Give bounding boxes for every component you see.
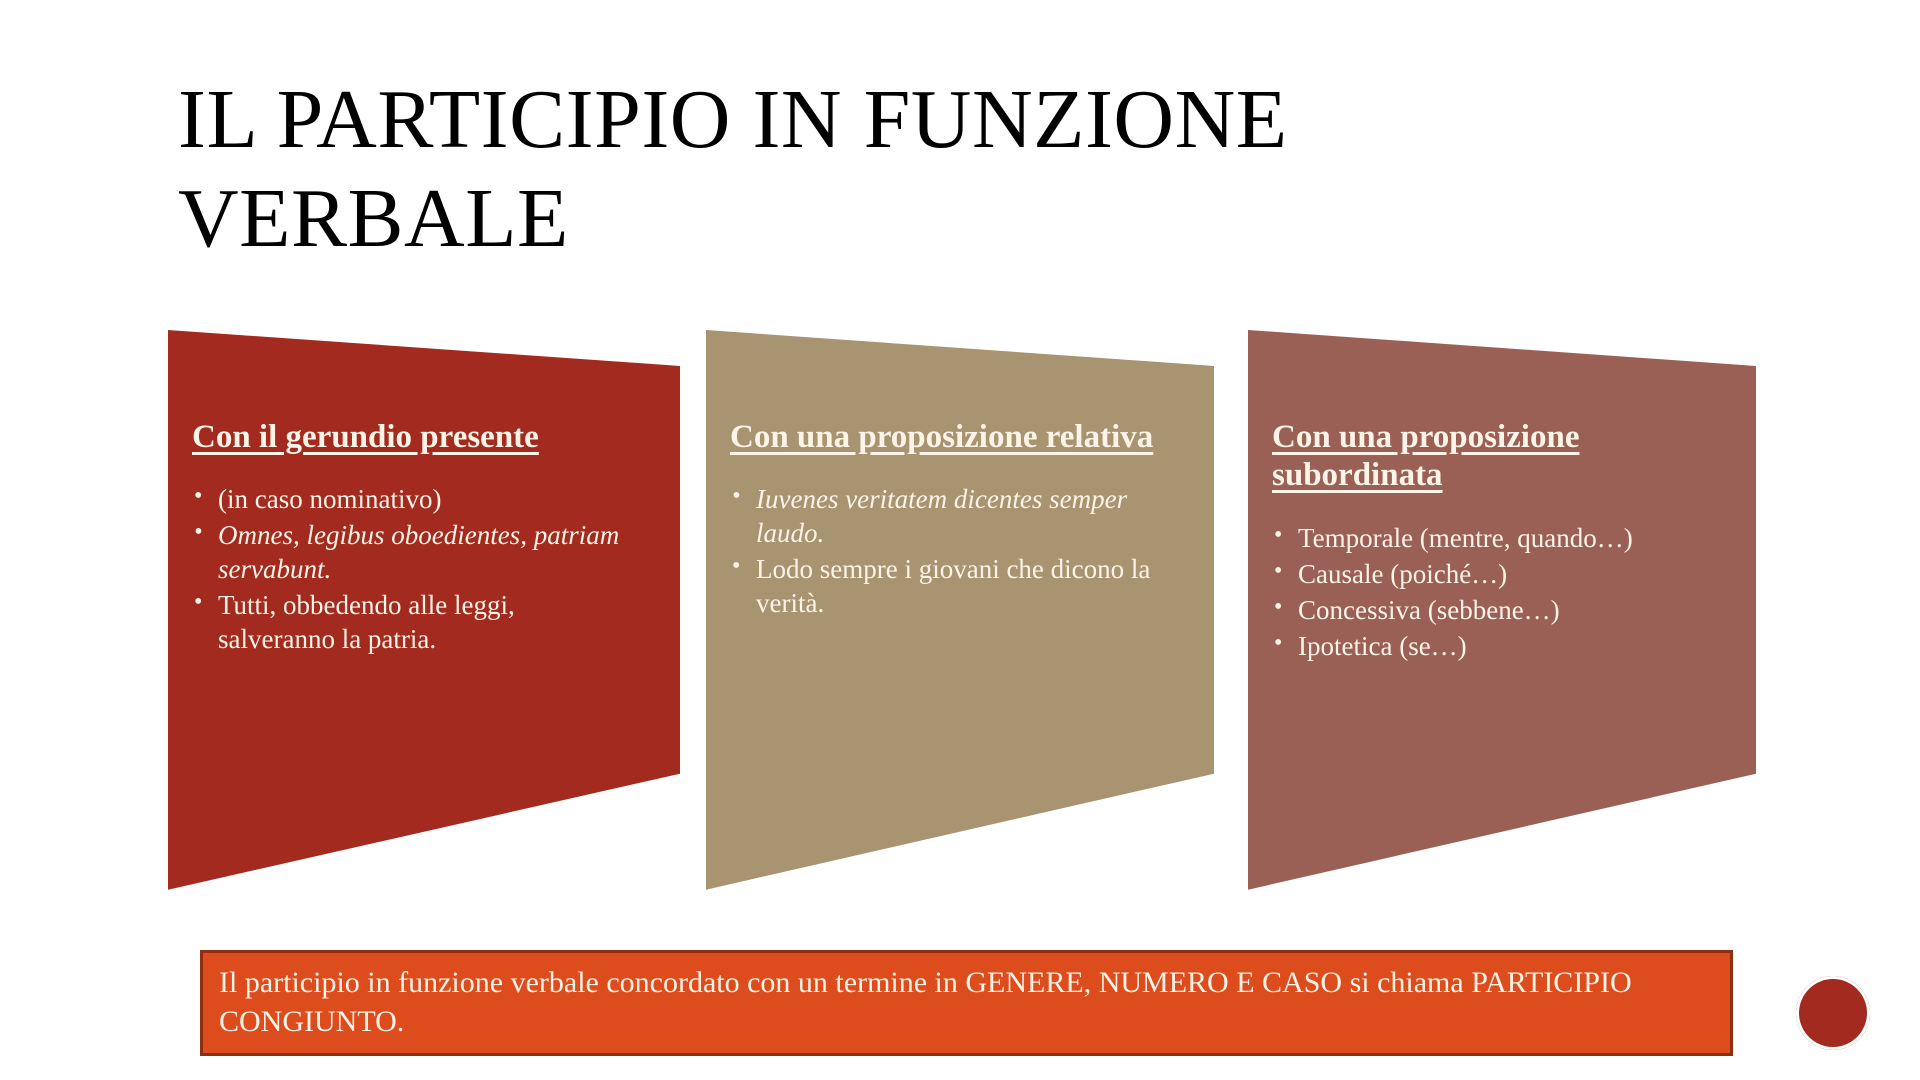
list-item: (in caso nominativo) [192,482,634,516]
panel-relativa-heading: Con una proposizione relativa [730,418,1168,456]
summary-banner: Il participio in funzione verbale concor… [200,950,1733,1056]
panel-subordinata[interactable]: Con una proposizione subordinata Tempora… [1248,330,1756,910]
page-title: IL PARTICIPIO IN FUNZIONE VERBALE [178,70,1738,268]
slide-canvas: IL PARTICIPIO IN FUNZIONE VERBALE Con il… [0,0,1920,1080]
panel-relativa-bullets: Iuvenes veritatem dicentes semper laudo.… [730,482,1168,620]
panel-subordinata-content: Con una proposizione subordinata Tempora… [1248,330,1756,910]
list-item: Omnes, legibus oboedientes, patriam serv… [192,518,634,586]
panel-subordinata-bullets: Temporale (mentre, quando…) Causale (poi… [1272,521,1730,663]
panel-gerundio[interactable]: Con il gerundio presente (in caso nomina… [168,330,680,910]
panel-relativa-content: Con una proposizione relativa Iuvenes ve… [706,330,1214,910]
list-item: Tutti, obbedendo alle leggi, salveranno … [192,588,634,656]
list-item: Ipotetica (se…) [1272,629,1730,663]
panel-gerundio-content: Con il gerundio presente (in caso nomina… [168,330,680,910]
panel-gerundio-bullets: (in caso nominativo) Omnes, legibus oboe… [192,482,634,656]
list-item: Iuvenes veritatem dicentes semper laudo. [730,482,1168,550]
panel-subordinata-heading: Con una proposizione subordinata [1272,418,1730,495]
panel-row: Con il gerundio presente (in caso nomina… [0,330,1920,910]
list-item: Concessiva (sebbene…) [1272,593,1730,627]
panel-gerundio-heading: Con il gerundio presente [192,418,634,456]
list-item: Temporale (mentre, quando…) [1272,521,1730,555]
panel-relativa[interactable]: Con una proposizione relativa Iuvenes ve… [706,330,1214,910]
list-item: Causale (poiché…) [1272,557,1730,591]
decorative-circle-icon [1796,976,1870,1050]
list-item: Lodo sempre i giovani che dicono la veri… [730,552,1168,620]
